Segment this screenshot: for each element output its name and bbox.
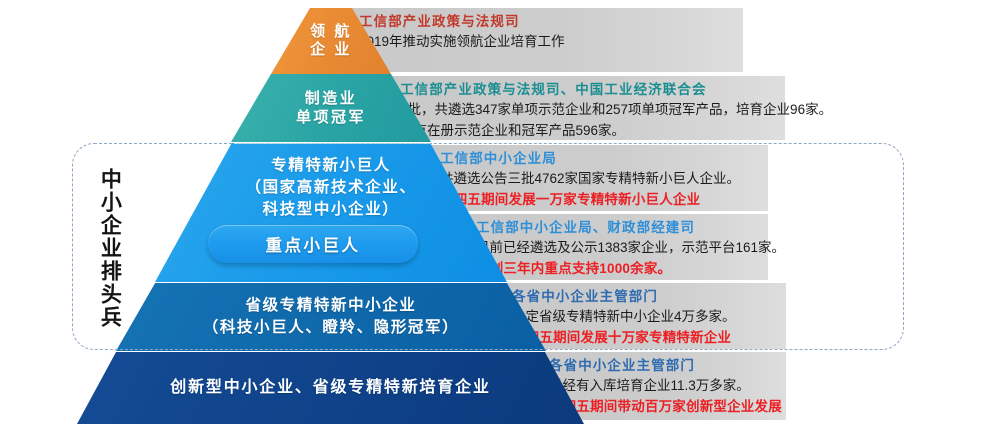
key-little-giant-button[interactable]: 重点小巨人 (208, 225, 418, 263)
panel-2-detail-line-1: 5批，共遴选347家单项示范企业和257项单项冠军产品，培育企业96家。 (388, 100, 775, 121)
panel-2-detail-line-2: 现有在册示范企业和冠军产品596家。 (388, 121, 775, 142)
tier-1-label-line-2: 企 业 (310, 41, 352, 59)
side-caption-text: 中小企业排头兵 (98, 168, 121, 329)
tier-1-label-line-1: 领 航 (310, 23, 352, 41)
tier-5-label-line-1: 创新型中小企业、省级专精特新培育企业 (170, 378, 490, 398)
tier-separator-3-4 (188, 282, 478, 283)
info-panel-leading-enterprise: 工信部产业政策与法规司 2019年推动实施领航企业培育工作 (347, 8, 743, 72)
panel-2-organization: 工信部产业政策与法规司、中国工业经济联合会 (388, 80, 775, 100)
info-panel-manufacturing-champion: 工信部产业政策与法规司、中国工业经济联合会 5批，共遴选347家单项示范企业和2… (388, 76, 785, 140)
panel-6-detail-line: 已经有入库培育企业11.3万多家。 (537, 376, 776, 397)
panel-1-detail-line: 2019年推动实施领航企业培育工作 (347, 32, 733, 53)
sme-vanguard-highlight-box (72, 143, 904, 350)
tier-2-label-line-1: 制造业 (305, 89, 358, 108)
panel-6-organization: 各省中小企业主管部门 (537, 356, 776, 376)
pyramid-infographic: 工信部产业政策与法规司 2019年推动实施领航企业培育工作 工信部产业政策与法规… (0, 0, 989, 426)
panel-1-organization: 工信部产业政策与法规司 (347, 12, 733, 32)
tier-separator-2-3 (234, 143, 430, 144)
key-little-giant-button-label: 重点小巨人 (266, 232, 361, 256)
pyramid-tier-innovative-sme[interactable]: 创新型中小企业、省级专精特新培育企业 (77, 352, 584, 424)
tier-separator-4-5 (126, 351, 540, 352)
tier-2-label-line-2: 单项冠军 (296, 108, 366, 127)
side-caption: 中小企业排头兵 (92, 168, 126, 328)
